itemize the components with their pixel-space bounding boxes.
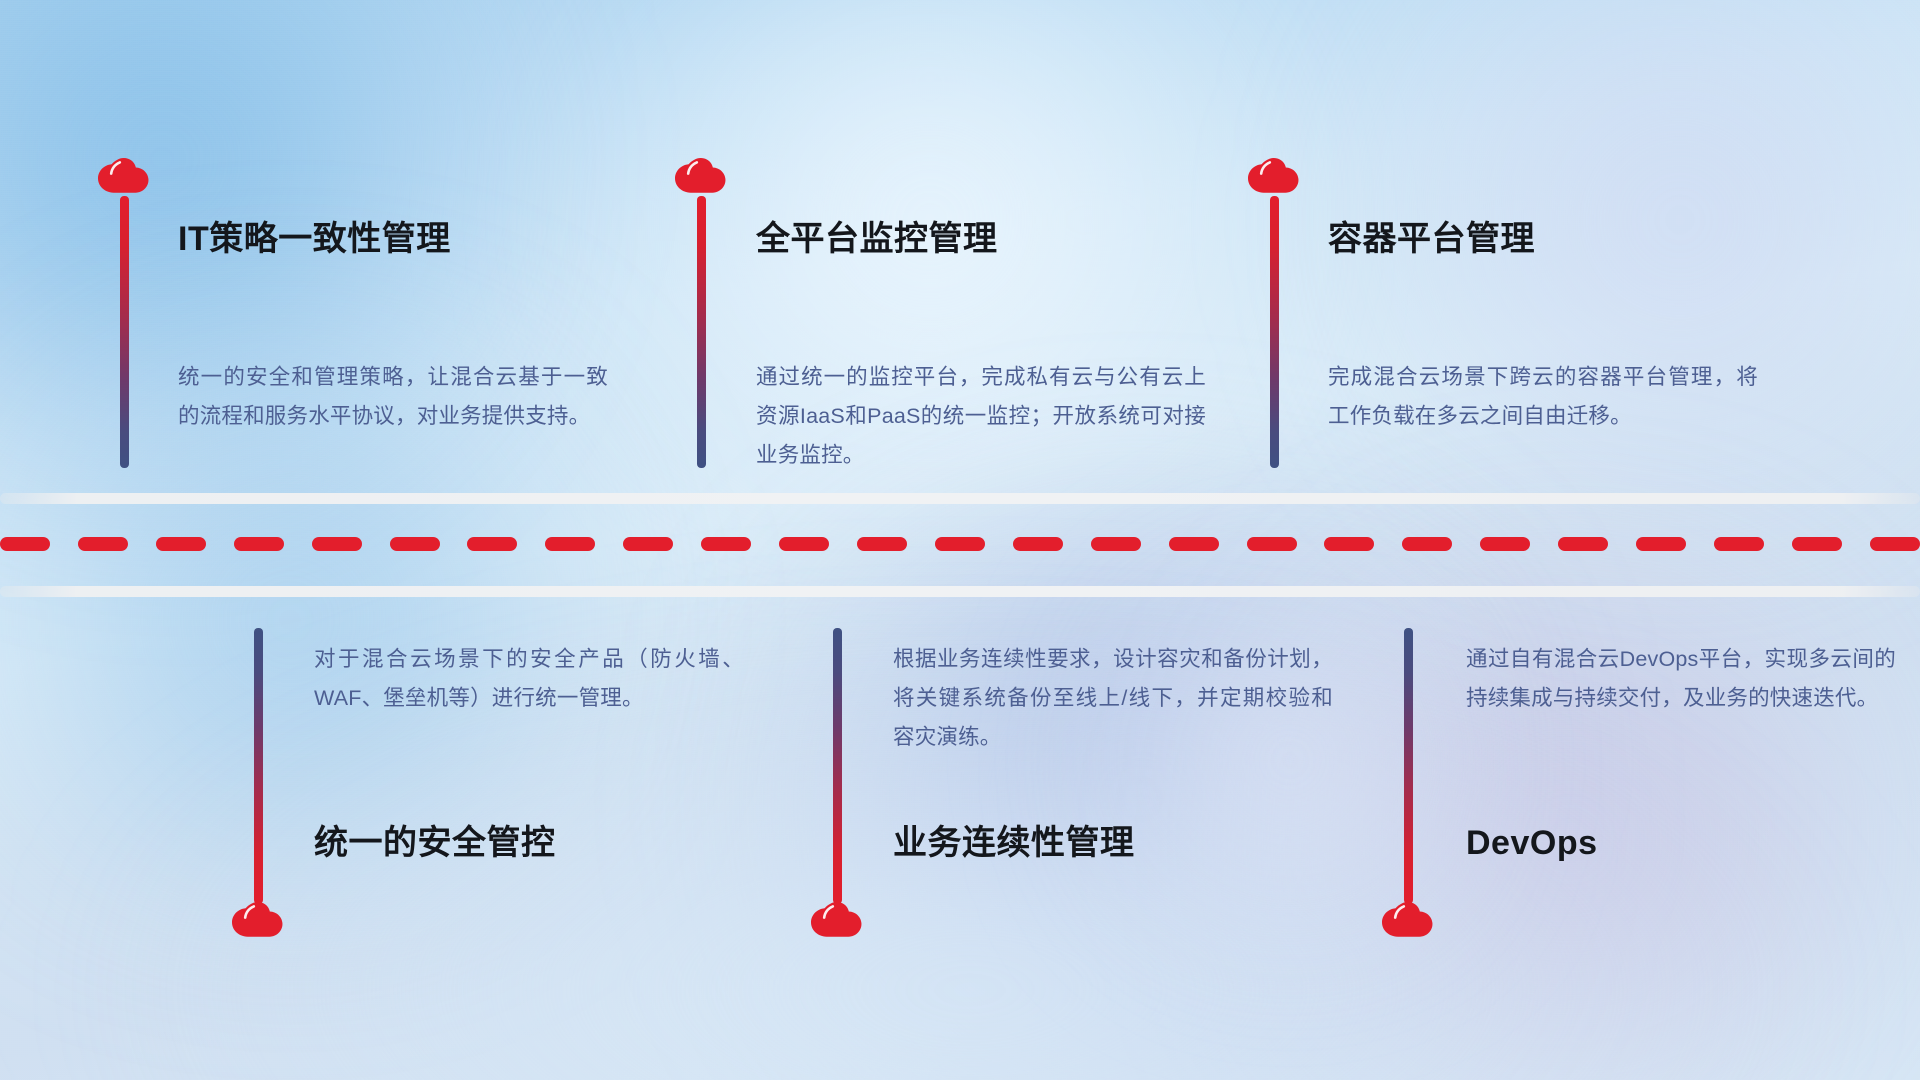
card-body-business-continuity-management: 根据业务连续性要求，设计容灾和备份计划，将关键系统备份至线上/线下，并定期校验和… [893,640,1333,757]
card-body-it-policy-consistency: 统一的安全和管理策略，让混合云基于一致的流程和服务水平协议，对业务提供支持。 [178,358,608,436]
card-stem [254,628,263,904]
card-body-full-platform-monitoring: 通过统一的监控平台，完成私有云与公有云上资源IaaS和PaaS的统一监控；开放系… [756,358,1206,475]
road-edge-top [0,493,1920,504]
card-title-devops: DevOps [1466,826,1598,860]
road-dash [1324,537,1374,551]
card-pin-unified-security-control [254,628,264,904]
road-dash [1169,537,1219,551]
road-dash [390,537,440,551]
card-pin-business-continuity-management [833,628,843,904]
road-dash [623,537,673,551]
card-stem [833,628,842,904]
road-dash [0,537,50,551]
card-body-container-platform-management: 完成混合云场景下跨云的容器平台管理，将工作负载在多云之间自由迁移。 [1328,358,1758,436]
road-dash [779,537,829,551]
road-edge-bottom [0,586,1920,597]
road-dash [1714,537,1764,551]
road-dash [935,537,985,551]
card-pin-it-policy-consistency [120,196,130,468]
road-dash [1558,537,1608,551]
cloud-icon [1246,156,1304,200]
road-dash [234,537,284,551]
card-title-it-policy-consistency: IT策略一致性管理 [178,222,451,256]
card-pin-devops [1404,628,1414,904]
road-dash [1402,537,1452,551]
card-stem [1404,628,1413,904]
cloud-icon [673,156,731,200]
card-body-unified-security-control: 对于混合云场景下的安全产品（防火墙、WAF、堡垒机等）进行统一管理。 [314,640,744,718]
cloud-icon [809,900,867,944]
road-dash [857,537,907,551]
road-dash [1013,537,1063,551]
cloud-icon [96,156,154,200]
cloud-icon [1380,900,1438,944]
road-dash [1636,537,1686,551]
card-stem [120,196,129,468]
road-dash [78,537,128,551]
card-stem [697,196,706,468]
cloud-icon [230,900,288,944]
road-dash [701,537,751,551]
road-dash [1792,537,1842,551]
road-center-dashes [0,537,1920,551]
road-dash [1480,537,1530,551]
card-title-unified-security-control: 统一的安全管控 [314,826,556,860]
road-dash [545,537,595,551]
card-body-devops: 通过自有混合云DevOps平台，实现多云间的持续集成与持续交付，及业务的快速迭代… [1466,640,1896,718]
road-dash [467,537,517,551]
road-dash [312,537,362,551]
card-title-full-platform-monitoring: 全平台监控管理 [756,222,998,256]
card-stem [1270,196,1279,468]
road-dash [1247,537,1297,551]
road-dash [1091,537,1141,551]
card-title-container-platform-management: 容器平台管理 [1328,222,1535,256]
card-pin-container-platform-management [1270,196,1280,468]
card-pin-full-platform-monitoring [697,196,707,468]
road-dash [1870,537,1920,551]
road-divider [0,493,1920,597]
road-dash [156,537,206,551]
card-title-business-continuity-management: 业务连续性管理 [893,826,1135,860]
